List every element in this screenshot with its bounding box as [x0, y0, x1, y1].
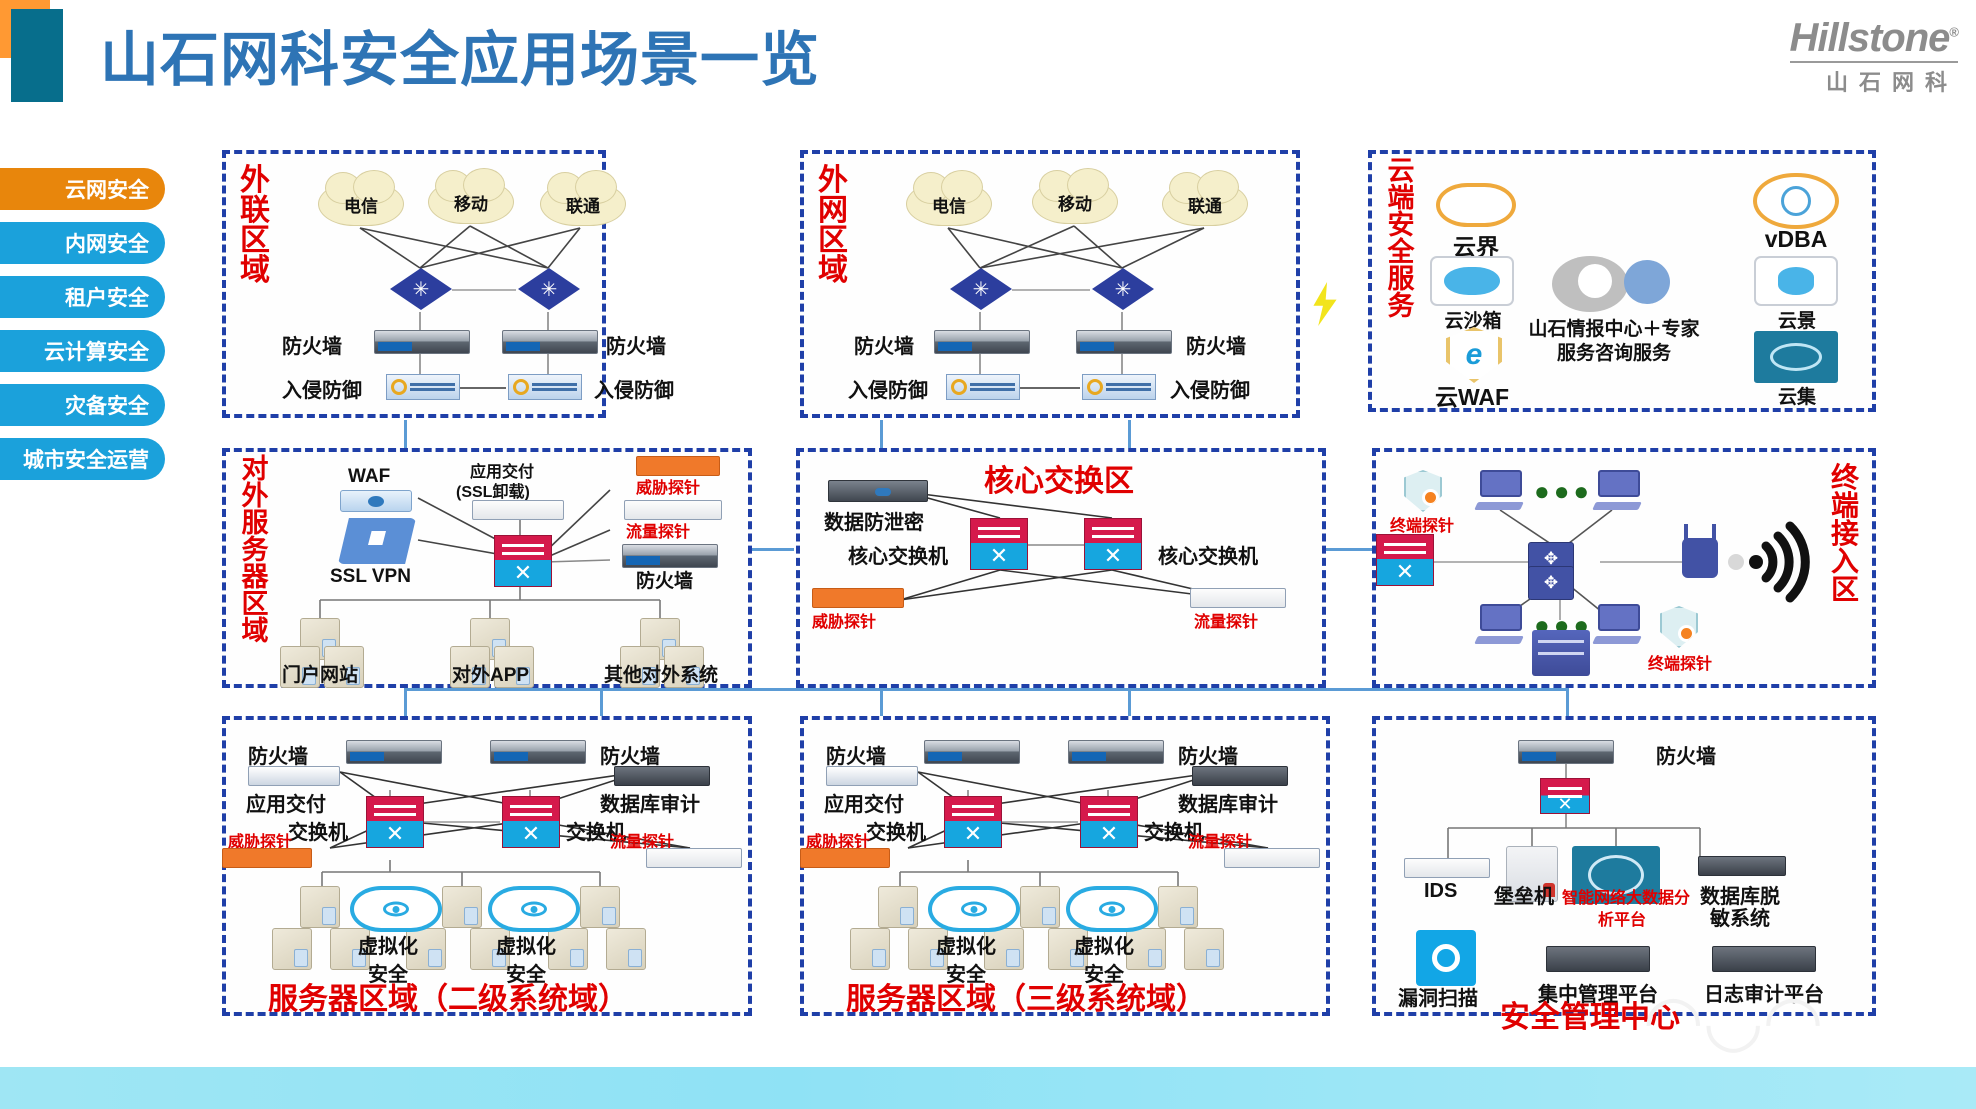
isp-cloud-telecom-label: 电信 [344, 192, 378, 217]
virtualization-security-cloud-l3-1 [928, 886, 1020, 932]
switch-server-l3-left: ✕ [944, 796, 1002, 848]
zone-external-net-title: 外网区域 [816, 166, 850, 286]
terminal-probe-top-label: 终端探针 [1390, 512, 1454, 536]
server-l2-db-audit-label: 数据库审计 [600, 788, 700, 817]
extnet-ips-right-label: 入侵防御 [1170, 374, 1250, 403]
ips-extnet-right [1082, 374, 1156, 400]
server-l2-firewall-left-label: 防火墙 [248, 740, 308, 769]
terminal-server-stack [1532, 630, 1590, 676]
isp-cloud-telecom: 电信 [318, 182, 404, 226]
server-l3-node-2 [1020, 886, 1060, 928]
lightning-connector-icon [1308, 282, 1342, 326]
ext-server-other-label: 其他对外系统 [604, 660, 718, 687]
threat-probe-device-core [812, 588, 904, 608]
sec-center-vuln-scan-label: 漏洞扫描 [1398, 982, 1478, 1011]
sidebar-item-cloud-computing[interactable]: 云计算安全 [0, 330, 165, 372]
terminal-dots-top: ●●● [1534, 476, 1593, 507]
ext-server-threat-probe-label: 威胁探针 [636, 474, 700, 498]
server-l3-virt-label-2a: 虚拟化 [1074, 930, 1134, 959]
server-l2-virt-label-1a: 虚拟化 [358, 930, 418, 959]
ips-bars-icon [1106, 383, 1151, 391]
firewall-sec-center [1518, 740, 1614, 764]
ext-server-waf-label: WAF [348, 466, 390, 488]
cloud-service-label-vdba: vDBA [1752, 226, 1840, 253]
isp-cloud-mobile-label: 移动 [454, 190, 488, 215]
cloud-service-label-waf: 云WAF [1424, 378, 1520, 412]
sidebar: 云网安全 内网安全 租户安全 云计算安全 灾备安全 城市安全运营 [0, 168, 165, 492]
db-audit-device-l3 [1192, 766, 1288, 786]
server-l3-node-4 [850, 928, 890, 970]
magnifier-icon [1432, 944, 1460, 972]
core-switch-right: ✕ [1084, 518, 1142, 570]
server-l2-node-1 [300, 886, 340, 928]
server-l3-node-9 [1184, 928, 1224, 970]
db-audit-device-l2 [614, 766, 710, 786]
sec-center-firewall-label: 防火墙 [1656, 740, 1716, 769]
ext-server-portal-label: 门户网站 [282, 660, 358, 687]
virtualization-security-cloud-l2-2 [488, 886, 580, 932]
ips-bars-icon [532, 383, 577, 391]
connector-extlink-to-extserver [404, 420, 407, 448]
cloud-cluster-icon [1752, 328, 1840, 386]
core-switch-right-label: 核心交换机 [1158, 540, 1258, 569]
firewall-extnet-right [1076, 330, 1172, 354]
server-l2-node-3 [580, 886, 620, 928]
vuln-scan-device [1416, 930, 1476, 986]
sidebar-item-intranet[interactable]: 内网安全 [0, 222, 165, 264]
isp-cloud-mobile: 移动 [428, 180, 514, 224]
traffic-probe-device-l2 [646, 848, 742, 868]
firewall-server-l2-right [490, 740, 586, 764]
ips-bars-icon [970, 383, 1015, 391]
sec-center-db-mask-label-2: 敏系统 [1710, 902, 1770, 931]
switch-server-l2-right: ✕ [502, 796, 560, 848]
core-traffic-probe-label: 流量探针 [1194, 608, 1258, 632]
threat-probe-device-l3 [800, 848, 890, 868]
terminal-pc-top-right-glyph [1594, 470, 1642, 510]
dlp-device [828, 480, 928, 502]
page-title: 山石网科安全应用场景一览 [100, 12, 820, 97]
adc-device-l2 [248, 766, 340, 786]
brand-logo: Hillstone® 山石网科 [1790, 18, 1959, 97]
brand-wordmark-text: Hillstone [1790, 16, 1950, 60]
connector-extserver-to-core [746, 548, 794, 551]
traffic-probe-device-core [1190, 588, 1286, 608]
server-l2-switch-left-label: 交换机 [288, 816, 348, 845]
ids-device [1404, 858, 1490, 878]
isp-cloud-mobile-2-label: 移动 [1058, 190, 1092, 215]
firewall-server-l3-right [1068, 740, 1164, 764]
server-l2-node-4 [272, 928, 312, 970]
ips-extnet-left [946, 374, 1020, 400]
connector-server-l2-drop-2 [600, 688, 603, 716]
server-l3-firewall-left-label: 防火墙 [826, 740, 886, 769]
firewall-server-l2-left [346, 740, 442, 764]
extlink-ips-right-label: 入侵防御 [594, 374, 674, 403]
extlink-firewall-left-label: 防火墙 [282, 330, 342, 359]
core-switch-left: ✕ [970, 518, 1028, 570]
firewall-ext-server [622, 544, 718, 568]
extnet-ips-left-label: 入侵防御 [848, 374, 928, 403]
firewall-server-l3-left [924, 740, 1020, 764]
wireless-ap-device [1682, 538, 1718, 578]
switch-terminal-core-2: ✥ [1528, 566, 1574, 600]
zone-core-switch-title: 核心交换区 [984, 456, 1134, 500]
cloud-service-label-yunji: 云集 [1770, 382, 1824, 409]
isp-cloud-unicom-label: 联通 [566, 192, 600, 217]
core-threat-probe-label: 威胁探针 [812, 608, 876, 632]
isp-cloud-telecom-2-label: 电信 [932, 192, 966, 217]
ssl-vpn-device [338, 518, 416, 564]
cloud-view-icon [1752, 252, 1840, 310]
cloud-sandbox-icon [1428, 252, 1516, 310]
header-accent-teal [11, 9, 63, 102]
threat-probe-device-ext [636, 456, 720, 476]
server-l3-firewall-right-label: 防火墙 [1178, 740, 1238, 769]
connector-extnet-down-1 [880, 420, 883, 448]
mgmt-platform-device [1546, 946, 1650, 972]
connector-server-l3-drop-1 [880, 688, 883, 716]
db-masking-device [1698, 856, 1786, 876]
sidebar-item-cloud-network[interactable]: 云网安全 [0, 168, 165, 210]
brand-wordmark: Hillstone® [1790, 18, 1959, 58]
server-l2-virt-label-2a: 虚拟化 [496, 930, 556, 959]
firewall-extlink-left [374, 330, 470, 354]
registered-trademark-icon: ® [1949, 25, 1958, 40]
zone-cloud-services-title: 云端安全服务 [1384, 158, 1418, 320]
brand-chinese-name: 山石网科 [1790, 65, 1959, 97]
magnifier-icon [1087, 379, 1103, 395]
extnet-firewall-right-label: 防火墙 [1186, 330, 1246, 359]
connector-seccenter-drop [1566, 688, 1569, 716]
server-l3-node-3 [1158, 886, 1198, 928]
terminal-probe-bottom-label: 终端探针 [1648, 650, 1712, 674]
ips-bars-icon [410, 383, 455, 391]
ext-server-adc-label-2: (SSL卸载) [456, 478, 530, 502]
terminal-pc-bottom-right [1594, 604, 1642, 644]
ext-server-traffic-probe-label: 流量探针 [626, 518, 690, 542]
server-l3-db-audit-label: 数据库审计 [1178, 788, 1278, 817]
brand-divider [1790, 61, 1959, 63]
switch-server-l2-left: ✕ [366, 796, 424, 848]
isp-cloud-telecom-2: 电信 [906, 182, 992, 226]
threat-probe-device-l2 [222, 848, 312, 868]
zone-external-link-title: 外联区域 [238, 166, 272, 286]
connector-cloud-to-core [1350, 548, 1353, 551]
connector-bus-horizontal [404, 688, 1184, 691]
connector-server-l2-drop-1 [404, 688, 407, 716]
zone-ext-server-title: 对外服务器区域 [238, 456, 272, 645]
server-l2-adc-label: 应用交付 [246, 788, 326, 817]
sidebar-item-tenant[interactable]: 租户安全 [0, 276, 165, 318]
footer-band [0, 1067, 1976, 1109]
core-dlp-label: 数据防泄密 [824, 506, 924, 535]
firewall-extlink-right [502, 330, 598, 354]
magnifier-icon [513, 379, 529, 395]
core-switch-left-label: 核心交换机 [848, 540, 948, 569]
log-audit-platform-device [1712, 946, 1816, 972]
cloud-service-label-intel-center: 山石情报中心＋专家服务咨询服务 [1528, 318, 1700, 366]
traffic-probe-device-ext [624, 500, 722, 520]
firewall-extnet-left [934, 330, 1030, 354]
server-l2-node-2 [442, 886, 482, 928]
ips-extlink-left [386, 374, 460, 400]
switch-terminal-edge: ✕ [1376, 534, 1434, 586]
ext-server-sslvpn-label: SSL VPN [330, 566, 411, 588]
ext-server-firewall-label: 防火墙 [636, 566, 693, 593]
connector-bus-to-seccenter [1184, 688, 1568, 691]
isp-cloud-unicom: 联通 [540, 182, 626, 226]
waf-device [340, 490, 412, 512]
adc-device-l3 [826, 766, 918, 786]
server-l3-virt-label-1a: 虚拟化 [936, 930, 996, 959]
sidebar-item-disaster-recovery[interactable]: 灾备安全 [0, 384, 165, 426]
sec-center-ids-label: IDS [1424, 880, 1457, 903]
virtualization-security-cloud-l3-2 [1066, 886, 1158, 932]
shield-e-icon: e [1430, 326, 1518, 384]
connector-server-l3-drop-2 [1128, 688, 1131, 716]
zone-server-l3-title: 服务器区域（三级系统域） [846, 974, 1206, 1018]
server-l3-node-1 [878, 886, 918, 928]
vdba-cloud-icon [1752, 172, 1840, 230]
sec-center-bastion-label: 堡垒机 [1494, 880, 1554, 909]
isp-cloud-mobile-2: 移动 [1032, 180, 1118, 224]
terminal-pc-top-left [1476, 470, 1524, 510]
sidebar-item-city-operations[interactable]: 城市安全运营 [0, 438, 165, 480]
adc-device [472, 500, 564, 520]
sec-center-bigdata-label-1: 智能网络大数据分 [1562, 884, 1690, 908]
cloud-outline-icon [1432, 176, 1520, 234]
switch-server-l3-right: ✕ [1080, 796, 1138, 848]
isp-cloud-unicom-2: 联通 [1162, 182, 1248, 226]
brain-intelligence-icon [1548, 250, 1678, 316]
connector-extnet-down-2 [1128, 420, 1131, 448]
server-l3-switch-left-label: 交换机 [866, 816, 926, 845]
magnifier-icon [391, 379, 407, 395]
traffic-probe-device-l3 [1224, 848, 1320, 868]
switch-ext-server: ✕ [494, 535, 552, 587]
sec-center-bigdata-label-2: 析平台 [1598, 906, 1646, 930]
ext-server-app-label: 对外APP [452, 660, 529, 687]
virtualization-security-cloud-l2-1 [350, 886, 442, 932]
server-l3-adc-label: 应用交付 [824, 788, 904, 817]
zone-server-l2-title: 服务器区域（二级系统域） [268, 974, 628, 1018]
extnet-firewall-left-label: 防火墙 [854, 330, 914, 359]
zone-terminal-title: 终端接入区 [1828, 464, 1862, 604]
server-l2-firewall-right-label: 防火墙 [600, 740, 660, 769]
extlink-firewall-right-label: 防火墙 [606, 330, 666, 359]
extlink-ips-left-label: 入侵防御 [282, 374, 362, 403]
switch-sec-center: ✕ [1540, 778, 1590, 814]
magnifier-icon [951, 379, 967, 395]
isp-cloud-unicom-2-label: 联通 [1188, 192, 1222, 217]
connector-core-to-terminal [1320, 548, 1372, 551]
background-watermark: ◠◡◠ [1647, 979, 1827, 1061]
terminal-pc-bottom-left [1476, 604, 1524, 644]
ips-extlink-right [508, 374, 582, 400]
server-l2-node-9 [606, 928, 646, 970]
